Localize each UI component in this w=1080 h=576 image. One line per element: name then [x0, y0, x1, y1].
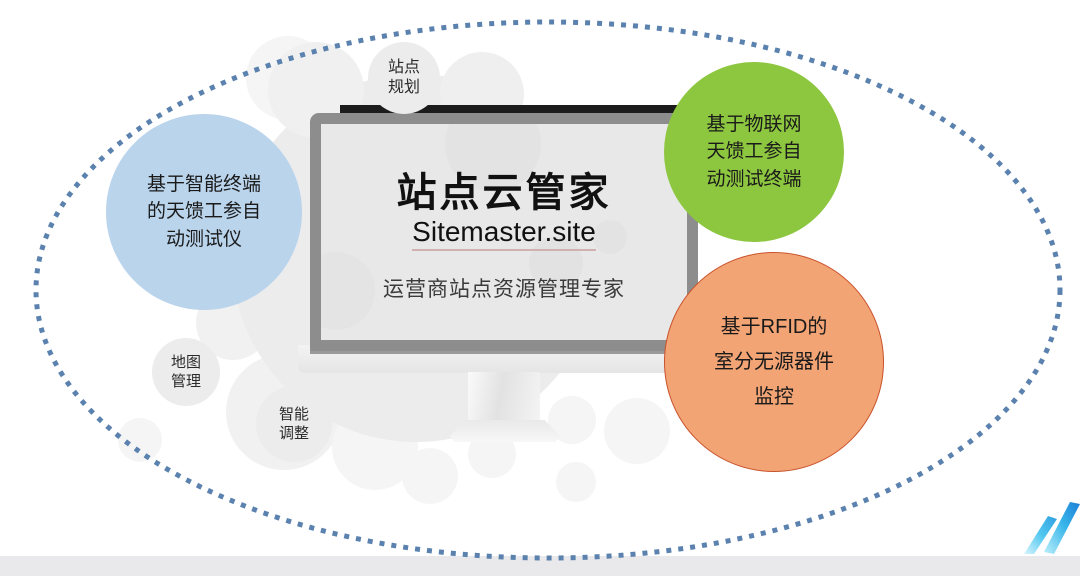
- decorative-blob: [556, 462, 596, 502]
- monitor-neck: [468, 372, 540, 422]
- monitor-screen: 站点云管家 Sitemaster.site 运营商站点资源管理专家: [321, 124, 687, 340]
- feature-circle-rfid-monitoring[interactable]: 基于RFID的 室分无源器件 监控: [664, 252, 884, 472]
- feature-circle-smart-terminal[interactable]: 基于智能终端 的天馈工参自 动测试仪: [106, 114, 302, 310]
- feature-circle-iot-terminal[interactable]: 基于物联网 天馈工参自 动测试终端: [664, 62, 844, 242]
- monitor-foot: [450, 420, 560, 442]
- page-subtitle: 运营商站点资源管理专家: [383, 273, 625, 303]
- brand-logo-icon: [1014, 496, 1080, 554]
- decorative-blob: [402, 448, 458, 504]
- feature-circle-rfid-monitoring-label: 基于RFID的 室分无源器件 监控: [714, 310, 834, 415]
- decorative-blob: [604, 398, 670, 464]
- bubble-smart-adjustment[interactable]: 智能 调整: [256, 386, 332, 462]
- monitor: 站点云管家 Sitemaster.site 运营商站点资源管理专家: [310, 113, 698, 351]
- bubble-map-management-label: 地图 管理: [171, 353, 201, 391]
- brand-domain: Sitemaster.site: [412, 216, 596, 251]
- bubble-site-planning[interactable]: 站点 规划: [368, 42, 440, 114]
- page-title: 站点云管家: [397, 172, 612, 214]
- screen-content: 站点云管家 Sitemaster.site 运营商站点资源管理专家: [321, 124, 687, 340]
- bubble-site-planning-label: 站点 规划: [388, 58, 420, 99]
- poster-canvas: 站点云管家 Sitemaster.site 运营商站点资源管理专家 站点 规划 …: [0, 0, 1080, 576]
- feature-circle-iot-terminal-label: 基于物联网 天馈工参自 动测试终端: [706, 111, 801, 194]
- decorative-blob: [118, 418, 162, 462]
- bubble-smart-adjustment-label: 智能 调整: [279, 405, 309, 443]
- bottom-band: [0, 556, 1080, 576]
- bubble-map-management[interactable]: 地图 管理: [152, 338, 220, 406]
- feature-circle-smart-terminal-label: 基于智能终端 的天馈工参自 动测试仪: [147, 171, 261, 254]
